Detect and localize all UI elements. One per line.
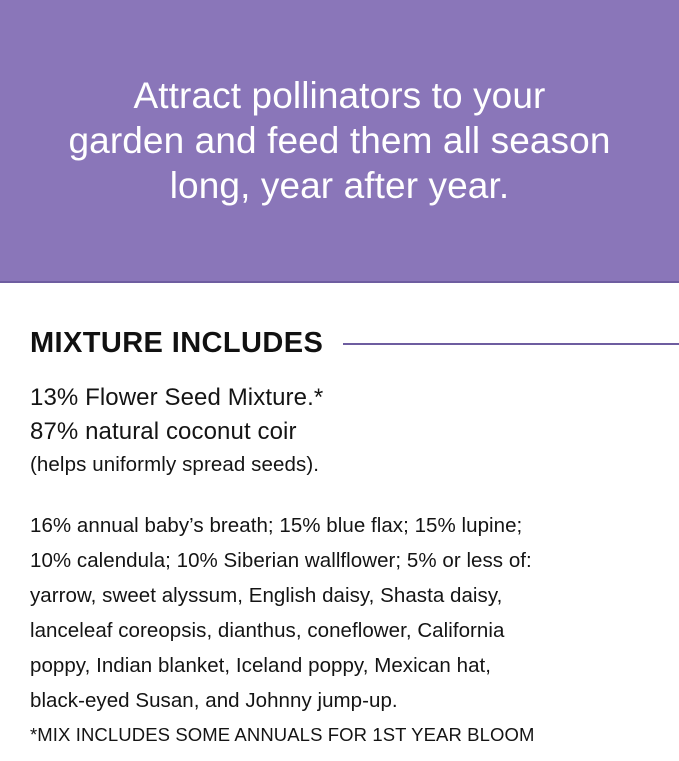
- content-area: MIXTURE INCLUDES 13% Flower Seed Mixture…: [0, 283, 679, 749]
- heading-divider-rule: [343, 343, 679, 345]
- mixture-primary-composition: 13% Flower Seed Mixture.* 87% natural co…: [30, 381, 653, 449]
- section-heading-mixture-includes: MIXTURE INCLUDES: [30, 329, 323, 358]
- mixture-coir-note: (helps uniformly spread seeds).: [30, 450, 653, 480]
- mixture-species-list: 16% annual baby’s breath; 15% blue flax;…: [30, 508, 653, 718]
- mixture-body: 13% Flower Seed Mixture.* 87% natural co…: [0, 381, 679, 749]
- hero-banner: Attract pollinators to your garden and f…: [0, 0, 679, 283]
- hero-headline: Attract pollinators to your garden and f…: [28, 73, 650, 208]
- mixture-footnote: *MIX INCLUDES SOME ANNUALS FOR 1ST YEAR …: [30, 721, 653, 749]
- section-heading-row: MIXTURE INCLUDES: [0, 329, 679, 358]
